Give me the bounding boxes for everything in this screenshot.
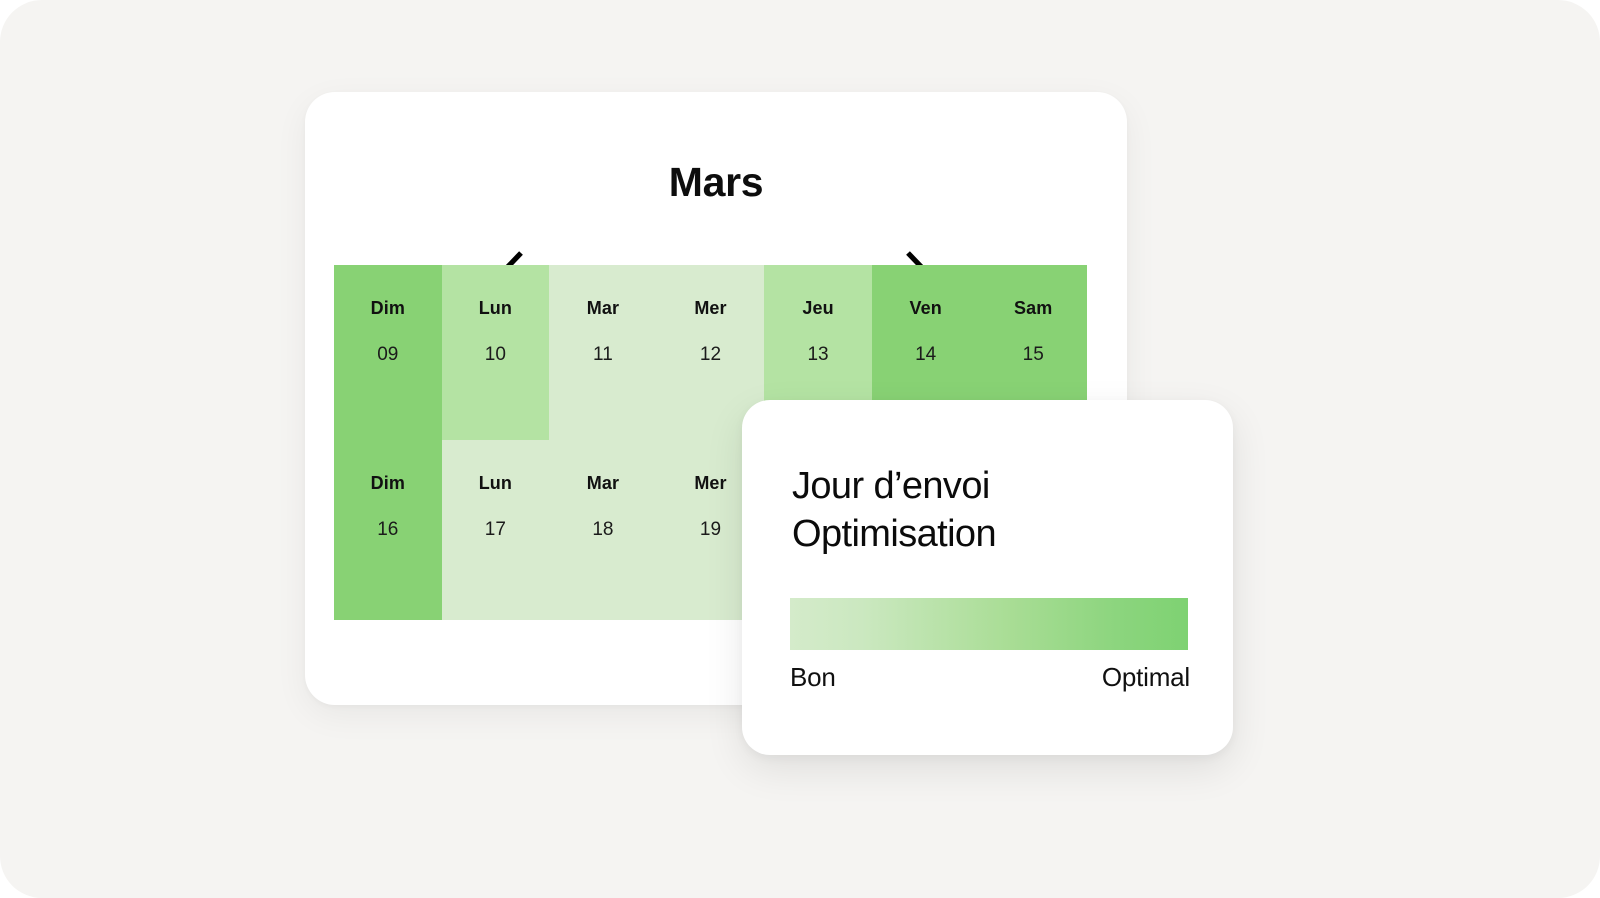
day-name: Mer — [694, 299, 726, 317]
scale-max-label: Optimal — [1102, 662, 1190, 693]
day-cell[interactable]: Lun 17 — [442, 440, 550, 620]
day-number: 17 — [485, 520, 506, 539]
day-number: 14 — [915, 345, 936, 364]
page-root: Mars Dim 09 — [0, 0, 1600, 898]
day-number: 16 — [377, 520, 398, 539]
popup-title-line-2: Optimisation — [792, 513, 996, 555]
popup-title-line-1: Jour d’envoi — [792, 465, 990, 507]
day-cell[interactable]: Mar 18 — [549, 440, 657, 620]
day-number: 15 — [1023, 345, 1044, 364]
day-number: 13 — [807, 345, 828, 364]
day-name: Lun — [479, 299, 512, 317]
day-number: 19 — [700, 520, 721, 539]
day-name: Lun — [479, 474, 512, 492]
day-name: Sam — [1014, 299, 1052, 317]
day-name: Jeu — [802, 299, 833, 317]
scale-min-label: Bon — [790, 662, 836, 693]
day-cell[interactable]: Mar 11 — [549, 265, 657, 440]
day-number: 11 — [593, 345, 613, 364]
optimisation-popup-card: Jour d’envoi Optimisation Bon Optimal — [742, 400, 1233, 755]
day-number: 10 — [485, 345, 506, 364]
quality-scale-labels: Bon Optimal — [790, 662, 1190, 693]
day-number: 09 — [377, 345, 398, 364]
day-cell[interactable]: Lun 10 — [442, 265, 550, 440]
calendar-header: Mars — [305, 92, 1127, 265]
day-name: Mar — [587, 474, 619, 492]
day-number: 18 — [592, 520, 613, 539]
day-number: 12 — [700, 345, 721, 364]
month-title: Mars — [305, 92, 1127, 265]
quality-gradient-bar — [790, 598, 1188, 650]
day-name: Mar — [587, 299, 619, 317]
day-name: Mer — [694, 474, 726, 492]
day-cell[interactable]: Dim 16 — [334, 440, 442, 620]
day-name: Dim — [371, 299, 405, 317]
popup-title: Jour d’envoi Optimisation — [792, 462, 1192, 559]
day-name: Dim — [371, 474, 405, 492]
day-cell[interactable]: Dim 09 — [334, 265, 442, 440]
day-name: Ven — [909, 299, 941, 317]
